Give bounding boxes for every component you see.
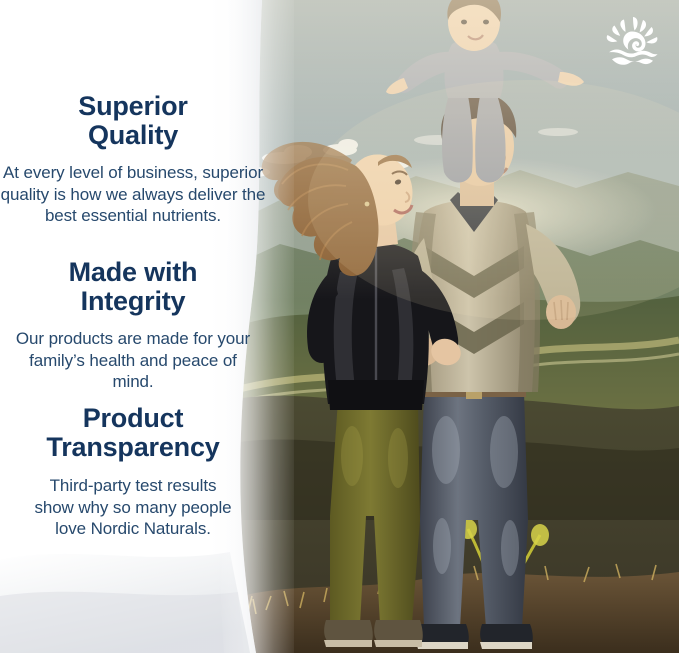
value-prop-superior-quality: SuperiorQuality At every level of busine… (0, 92, 266, 227)
body-made-with-integrity: Our products are made for your family’s … (0, 328, 266, 393)
heading-superior-quality: SuperiorQuality (0, 92, 266, 150)
value-prop-product-transparency: ProductTransparency Third-party test res… (0, 404, 266, 540)
value-props-list: SuperiorQuality At every level of busine… (0, 0, 266, 653)
body-superior-quality: At every level of business, superior qua… (0, 162, 266, 227)
heading-line-2: Quality (88, 120, 178, 150)
heading-made-with-integrity: Made withIntegrity (0, 258, 266, 316)
heading-product-transparency: ProductTransparency (0, 404, 266, 462)
heading-line-2: Integrity (81, 286, 186, 316)
body-product-transparency: Third-party test results show why so man… (0, 475, 266, 540)
heading-line-1: Made with (69, 257, 198, 287)
sun-waves-logo-icon (607, 17, 658, 65)
value-prop-made-with-integrity: Made withIntegrity Our products are made… (0, 258, 266, 393)
brand-logo (603, 16, 661, 66)
heading-line-1: Product (83, 403, 184, 433)
heading-line-2: Transparency (46, 432, 219, 462)
marketing-banner: SuperiorQuality At every level of busine… (0, 0, 679, 653)
heading-line-1: Superior (78, 91, 187, 121)
